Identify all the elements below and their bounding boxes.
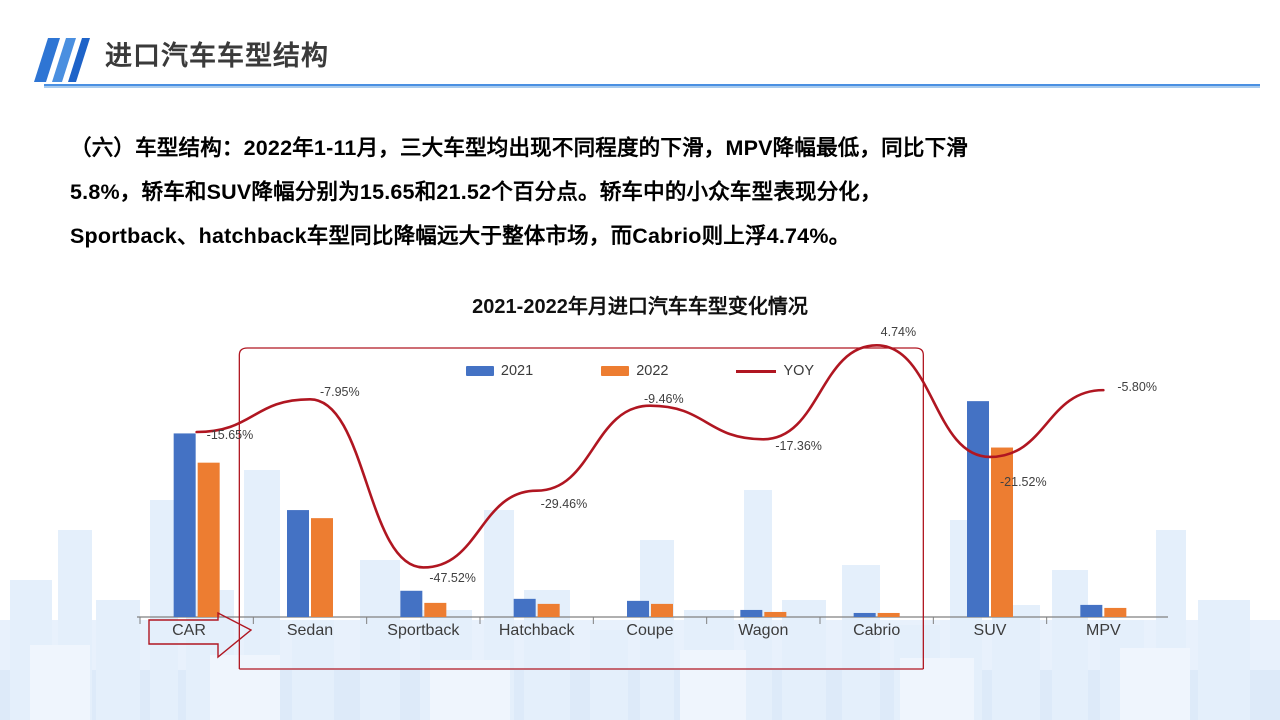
legend-swatch-2021 [466, 366, 494, 376]
yoy-data-label-sportback: -47.52% [429, 571, 476, 585]
category-label-cabrio: Cabrio [817, 622, 937, 640]
category-label-hatchback: Hatchback [477, 622, 597, 640]
yoy-data-label-mpv: -5.80% [1117, 380, 1157, 394]
yoy-data-label-coupe: -9.46% [644, 392, 684, 406]
category-label-sportback: Sportback [363, 622, 483, 640]
paragraph-line-3: Sportback、hatchback车型同比降幅远大于整体市场，而Cabrio… [70, 214, 1235, 258]
category-label-sedan: Sedan [250, 622, 370, 640]
page-title: 进口汽车车型结构 [105, 34, 329, 73]
yoy-data-label-hatchback: -29.46% [541, 497, 588, 511]
legend-line-yoy [736, 370, 776, 373]
chart-legend: 2021 2022 YOY [0, 360, 1280, 382]
category-label-mpv: MPV [1043, 622, 1163, 640]
yoy-data-label-suv: -21.52% [1000, 475, 1047, 489]
legend-label-2022: 2022 [636, 363, 668, 379]
yoy-data-label-wagon: -17.36% [775, 439, 822, 453]
category-label-wagon: Wagon [703, 622, 823, 640]
legend-item-yoy[interactable]: YOY [736, 363, 814, 379]
category-label-suv: SUV [930, 622, 1050, 640]
paragraph-line-2: 5.8%，轿车和SUV降幅分别为15.65和21.52个百分点。轿车中的小众车型… [70, 170, 1235, 214]
header-divider [44, 84, 1260, 88]
yoy-data-label-cabrio: 4.74% [881, 325, 916, 339]
legend-swatch-2022 [601, 366, 629, 376]
body-paragraph: （六）车型结构：2022年1-11月，三大车型均出现不同程度的下滑，MPV降幅最… [70, 126, 1235, 258]
slide: 进口汽车车型结构 （六）车型结构：2022年1-11月，三大车型均出现不同程度的… [0, 0, 1280, 720]
legend-item-2022[interactable]: 2022 [601, 363, 668, 379]
yoy-data-label-sedan: -7.95% [320, 385, 360, 399]
legend-label-yoy: YOY [783, 363, 814, 379]
legend-item-2021[interactable]: 2021 [466, 363, 533, 379]
category-label-coupe: Coupe [590, 622, 710, 640]
paragraph-line-1: （六）车型结构：2022年1-11月，三大车型均出现不同程度的下滑，MPV降幅最… [70, 126, 1235, 170]
chart-title: 2021-2022年月进口汽车车型变化情况 [0, 290, 1280, 319]
legend-label-2021: 2021 [501, 363, 533, 379]
header-accent-bars-icon [20, 38, 96, 82]
car-callout-label: CAR [148, 622, 230, 640]
slide-header: 进口汽车车型结构 [0, 32, 1280, 94]
yoy-data-label-car: -15.65% [207, 428, 254, 442]
